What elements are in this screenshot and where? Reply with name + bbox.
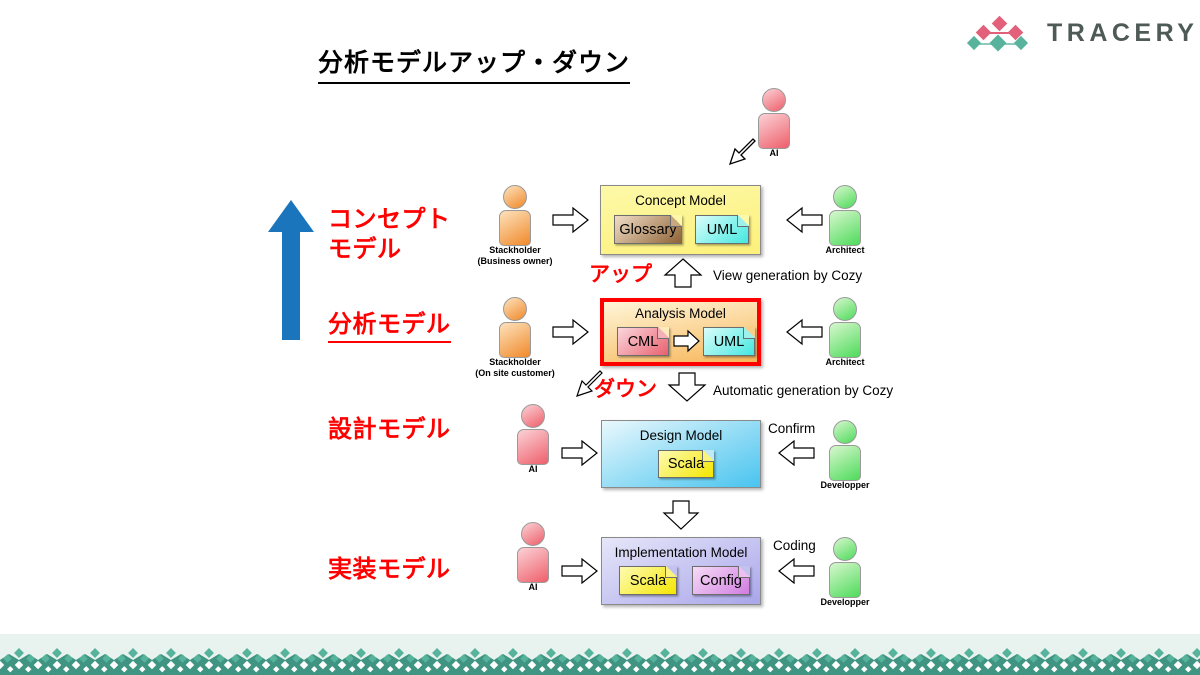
page-title: 分析モデルアップ・ダウン (318, 43, 630, 84)
right-arrow-icon-design (562, 440, 598, 466)
stage-label-concept: コンセプト モデル (328, 205, 451, 265)
avatar-body (517, 429, 549, 465)
left-arrow-icon-concept (786, 207, 822, 233)
avatar-head (521, 522, 545, 546)
doc-config[interactable]: Config (692, 566, 750, 595)
doc-glossary[interactable]: Glossary (614, 215, 682, 244)
down-arrow-outline-icon (668, 372, 706, 402)
tracery-logo: TRACERY (967, 16, 1198, 50)
right-arrow-icon-impl (562, 558, 598, 584)
implementation-model-title: Implementation Model (602, 545, 760, 560)
actor-label-developper-impl: Developper (820, 597, 869, 608)
avatar-body (517, 547, 549, 583)
doc-scala-impl[interactable]: Scala (619, 566, 677, 595)
stage-label-concept-line1: コンセプト (328, 205, 451, 235)
doc-uml-concept[interactable]: UML (695, 215, 749, 244)
actor-stakeholder-business-owner: Stackholder (Business owner) (498, 185, 532, 246)
avatar-body (829, 445, 861, 481)
doc-uml-analysis[interactable]: UML (703, 327, 755, 356)
analysis-model-title: Analysis Model (604, 306, 757, 321)
actor-ai-design: AI (516, 404, 550, 465)
diagonal-arrow-icon (722, 140, 758, 172)
annotation-up-jp: アップ (589, 258, 652, 288)
avatar-body (758, 113, 790, 149)
doc-fold-icon (702, 450, 714, 462)
actor-architect-analysis: Architect (828, 297, 862, 358)
avatar-body (829, 562, 861, 598)
actor-sub: (Business owner) (477, 256, 552, 267)
right-arrow-icon-concept (553, 207, 589, 233)
annotation-view-generation: View generation by Cozy (713, 268, 862, 283)
actor-developper-design: Developper (828, 420, 862, 481)
annotation-confirm: Confirm (768, 421, 815, 436)
right-arrow-icon-analysis (553, 319, 589, 345)
doc-scala-design[interactable]: Scala (658, 450, 714, 478)
up-arrow-icon (268, 200, 314, 340)
concept-model-title: Concept Model (601, 193, 760, 208)
doc-fold-icon (737, 215, 749, 227)
actor-ai-implementation: AI (516, 522, 550, 583)
concept-model-box[interactable]: Concept Model Glossary UML (600, 185, 761, 255)
actor-role: Stackholder (475, 357, 555, 368)
actor-ai-top: AI (757, 88, 791, 149)
doc-uml-label: UML (714, 334, 745, 350)
footer-band (0, 634, 1200, 675)
actor-label-architect-concept: Architect (825, 245, 864, 256)
design-model-title: Design Model (602, 428, 760, 443)
avatar-head (503, 185, 527, 209)
actor-label-ai-top: AI (770, 148, 779, 159)
avatar-head (503, 297, 527, 321)
actor-label-ai-impl: AI (529, 582, 538, 593)
tracery-diamond-logo-icon (967, 16, 1033, 50)
avatar-body (499, 322, 531, 358)
doc-fold-icon (657, 327, 669, 339)
doc-uml-label: UML (707, 222, 738, 238)
actor-sub: (On site customer) (475, 368, 555, 379)
stage-label-concept-line2: モデル (328, 235, 451, 265)
actor-stakeholder-onsite-customer: Stackholder (On site customer) (498, 297, 532, 358)
design-model-box[interactable]: Design Model Scala (601, 420, 761, 488)
avatar-body (829, 210, 861, 246)
left-arrow-icon-analysis (786, 319, 822, 345)
doc-scala-label: Scala (630, 573, 666, 589)
avatar-head (762, 88, 786, 112)
left-arrow-icon-design (778, 440, 814, 466)
doc-cml-label: CML (628, 334, 659, 350)
actor-role: Stackholder (477, 245, 552, 256)
actor-developper-implementation: Developper (828, 537, 862, 598)
doc-scala-label: Scala (668, 456, 704, 472)
stage-label-design: 設計モデル (328, 415, 451, 445)
doc-cml[interactable]: CML (617, 327, 669, 356)
doc-fold-icon (670, 215, 682, 227)
doc-fold-icon (738, 566, 750, 578)
avatar-head (833, 185, 857, 209)
down-arrow-outline-icon-impl (663, 500, 699, 530)
doc-glossary-label: Glossary (619, 222, 676, 238)
actor-label-stakeholder-osc: Stackholder (On site customer) (475, 357, 555, 379)
actor-label-architect-analysis: Architect (825, 357, 864, 368)
avatar-head (833, 537, 857, 561)
avatar-body (829, 322, 861, 358)
stage-label-implementation: 実装モデル (328, 555, 451, 585)
diamond-band-pattern-icon (0, 634, 1200, 675)
stage-label-analysis: 分析モデル (328, 310, 451, 343)
up-arrow-outline-icon (664, 258, 702, 288)
left-arrow-icon-impl (778, 558, 814, 584)
analysis-model-box[interactable]: Analysis Model CML UML (600, 298, 761, 366)
actor-label-stakeholder-bo: Stackholder (Business owner) (477, 245, 552, 267)
implementation-model-box[interactable]: Implementation Model Scala Config (601, 537, 761, 605)
inner-right-arrow-icon (674, 330, 700, 352)
avatar-head (521, 404, 545, 428)
doc-fold-icon (665, 566, 677, 578)
actor-label-ai-design: AI (529, 464, 538, 475)
annotation-coding: Coding (773, 538, 816, 553)
avatar-head (833, 297, 857, 321)
actor-label-developper-design: Developper (820, 480, 869, 491)
avatar-body (499, 210, 531, 246)
avatar-head (833, 420, 857, 444)
doc-fold-icon (743, 327, 755, 339)
annotation-automatic-generation: Automatic generation by Cozy (713, 383, 893, 398)
actor-architect-concept: Architect (828, 185, 862, 246)
annotation-down-jp: ダウン (594, 373, 657, 403)
logo-wordmark: TRACERY (1047, 19, 1198, 48)
slide-canvas: TRACERY 分析モデルアップ・ダウン コンセプト モデル 分析モデル 設計モ… (0, 0, 1200, 675)
doc-config-label: Config (700, 573, 742, 589)
